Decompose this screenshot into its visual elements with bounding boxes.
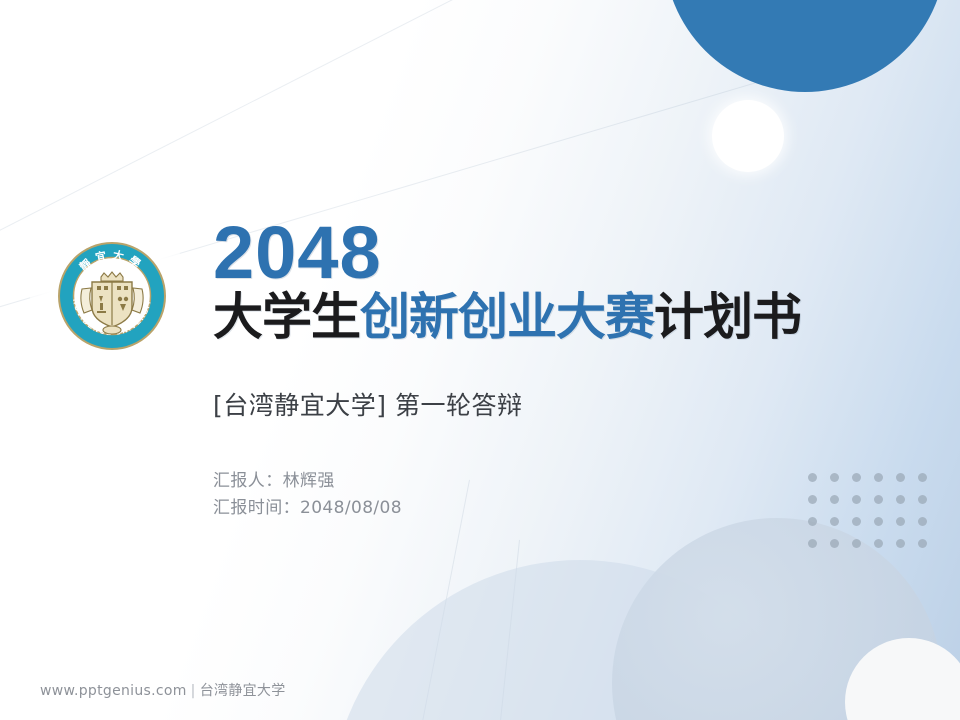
main-title-part-1: 大学生 (213, 288, 360, 346)
decorative-white-circle-top-right (712, 100, 784, 172)
footer-website: www.pptgenius.com (40, 683, 187, 699)
grid-dot (918, 517, 927, 526)
grid-dot (896, 539, 905, 548)
presentation-cover-slide: 靜宜大學 PROVIDENCE UNIVERSITY (0, 0, 960, 720)
main-title-part-2: 创新创业大赛 (360, 288, 654, 346)
grid-dot (918, 495, 927, 504)
footer-separator: | (187, 683, 200, 699)
providence-university-seal-logo: 靜宜大學 PROVIDENCE UNIVERSITY (57, 241, 167, 351)
grid-dot (874, 539, 883, 548)
footer: www.pptgenius.com|台湾静宜大学 (40, 680, 286, 700)
year-title: 2048 (213, 218, 913, 288)
grid-dot (918, 473, 927, 482)
grid-dot (918, 539, 927, 548)
grid-dot (808, 539, 817, 548)
decorative-blue-circle-top-right (664, 0, 946, 92)
presentation-meta: 汇报人：林辉强 汇报时间：2048/08/08 (213, 468, 913, 521)
presenter-line: 汇报人：林辉强 (213, 468, 913, 494)
grid-dot (852, 539, 861, 548)
main-title: 大学生创新创业大赛计划书 (213, 290, 913, 344)
subtitle: [台湾静宜大学] 第一轮答辩 (213, 386, 913, 422)
main-title-part-3: 计划书 (654, 288, 801, 346)
date-line: 汇报时间：2048/08/08 (213, 495, 913, 521)
grid-dot (830, 539, 839, 548)
cover-text-block: 2048 大学生创新创业大赛计划书 [台湾静宜大学] 第一轮答辩 汇报人：林辉强… (213, 218, 913, 521)
footer-organization: 台湾静宜大学 (200, 683, 286, 699)
